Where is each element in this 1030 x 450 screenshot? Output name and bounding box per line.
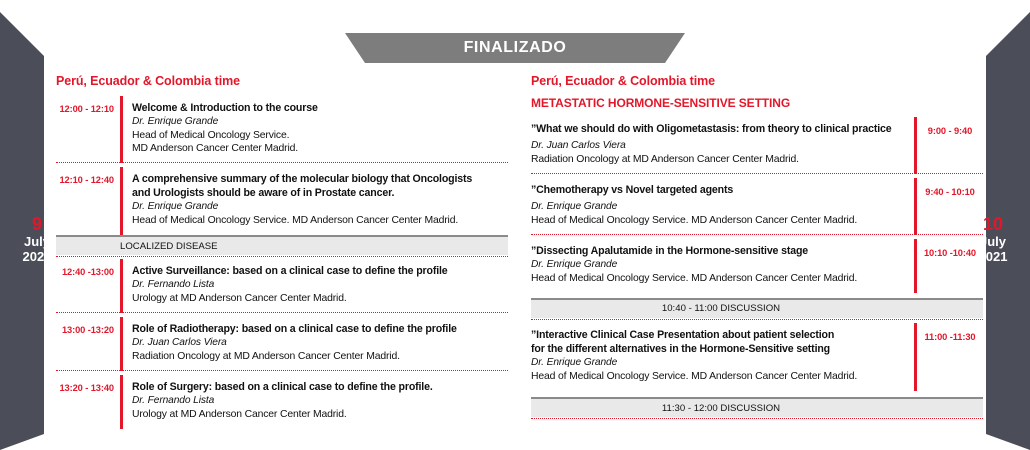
- status-banner: FINALIZADO: [345, 33, 685, 63]
- day2-section-title: METASTATIC HORMONE-SENSITIVE SETTING: [531, 96, 983, 110]
- agenda-column-day2: Perú, Ecuador & Colombia time METASTATIC…: [531, 74, 983, 417]
- session-title: Active Surveillance: based on a clinical…: [132, 265, 508, 278]
- band-divider: [531, 319, 983, 320]
- agenda-row: ”What we should do with Oligometastasis:…: [531, 117, 983, 174]
- session-body: ”Dissecting Apalutamide in the Hormone-s…: [531, 239, 914, 293]
- session-time: 9:40 - 10:10: [917, 178, 983, 197]
- agenda-row: 12:00 - 12:10 Welcome & Introduction to …: [56, 96, 508, 163]
- session-affiliation: Urology at MD Anderson Cancer Center Mad…: [132, 408, 508, 421]
- session-time: 9:00 - 9:40: [917, 117, 983, 136]
- agenda-row: ”Chemotherapy vs Novel targeted agents D…: [531, 178, 983, 235]
- session-time: 12:00 - 12:10: [56, 96, 120, 114]
- session-affiliation: Radiation Oncology at MD Anderson Cancer…: [132, 350, 508, 363]
- session-speaker: Dr. Juan Carlos Viera: [132, 337, 508, 350]
- session-time: 12:10 - 12:40: [56, 167, 120, 185]
- day1-timezone-title: Perú, Ecuador & Colombia time: [56, 74, 508, 88]
- discussion-band-label: 11:30 - 12:00 DISCUSSION: [531, 403, 983, 414]
- row-divider: [56, 370, 508, 371]
- agenda-column-day1: Perú, Ecuador & Colombia time 12:00 - 12…: [56, 74, 508, 429]
- session-affiliation: Head of Medical Oncology Service. MD And…: [531, 214, 906, 227]
- band-divider: [531, 418, 983, 419]
- agenda-row: 12:40 -13:00 Active Surveillance: based …: [56, 259, 508, 313]
- band-divider: [56, 256, 508, 257]
- section-band-label: LOCALIZED DISEASE: [56, 241, 218, 252]
- session-time: 13:00 -13:20: [56, 317, 120, 335]
- session-affiliation: Urology at MD Anderson Cancer Center Mad…: [132, 292, 508, 305]
- session-speaker: Dr. Enrique Grande: [132, 201, 508, 214]
- agenda-row: ”Dissecting Apalutamide in the Hormone-s…: [531, 239, 983, 293]
- discussion-band-2: 11:30 - 12:00 DISCUSSION: [531, 397, 983, 417]
- day2-timezone-title: Perú, Ecuador & Colombia time: [531, 74, 983, 88]
- session-speaker: Dr. Juan Carlos Viera: [531, 140, 906, 153]
- session-speaker: Dr. Fernando Lista: [132, 395, 508, 408]
- session-body: ”What we should do with Oligometastasis:…: [531, 117, 914, 174]
- session-speaker: Dr. Enrique Grande: [531, 259, 906, 272]
- session-body: Active Surveillance: based on a clinical…: [123, 259, 508, 313]
- agenda-row: ”Interactive Clinical Case Presentation …: [531, 323, 983, 391]
- session-speaker: Dr. Enrique Grande: [531, 357, 906, 370]
- session-title: ”Dissecting Apalutamide in the Hormone-s…: [531, 245, 906, 258]
- session-affiliation: Radiation Oncology at MD Anderson Cancer…: [531, 153, 906, 166]
- session-speaker: Dr. Enrique Grande: [132, 116, 508, 129]
- row-divider: [56, 162, 508, 163]
- session-body: Role of Surgery: based on a clinical cas…: [123, 375, 508, 429]
- session-title: ”What we should do with Oligometastasis:…: [531, 123, 906, 136]
- discussion-band-1: 10:40 - 11:00 DISCUSSION: [531, 298, 983, 318]
- session-title: A comprehensive summary of the molecular…: [132, 173, 508, 186]
- agenda-page: 9 July 2021 10 July 2021 FINALIZADO Perú…: [0, 0, 1030, 450]
- agenda-row: 13:20 - 13:40 Role of Surgery: based on …: [56, 375, 508, 429]
- session-affiliation: MD Anderson Cancer Center Madrid.: [132, 142, 508, 155]
- session-title: Role of Radiotherapy: based on a clinica…: [132, 323, 508, 336]
- row-divider: [531, 173, 983, 174]
- status-banner-label: FINALIZADO: [464, 39, 567, 57]
- session-title: and Urologists should be aware of in Pro…: [132, 187, 508, 200]
- session-speaker: Dr. Enrique Grande: [531, 201, 906, 214]
- session-title: ”Chemotherapy vs Novel targeted agents: [531, 184, 906, 197]
- session-body: ”Chemotherapy vs Novel targeted agents D…: [531, 178, 914, 235]
- section-band-localized-disease: LOCALIZED DISEASE: [56, 235, 508, 255]
- session-body: A comprehensive summary of the molecular…: [123, 167, 508, 235]
- session-affiliation: Head of Medical Oncology Service. MD And…: [531, 272, 906, 285]
- session-title: ”Interactive Clinical Case Presentation …: [531, 329, 906, 342]
- row-divider: [56, 312, 508, 313]
- session-title: for the different alternatives in the Ho…: [531, 343, 906, 356]
- session-time: 12:40 -13:00: [56, 259, 120, 277]
- session-body: Role of Radiotherapy: based on a clinica…: [123, 317, 508, 371]
- session-time: 13:20 - 13:40: [56, 375, 120, 393]
- session-affiliation: Head of Medical Oncology Service. MD And…: [132, 214, 508, 227]
- session-title: Role of Surgery: based on a clinical cas…: [132, 381, 508, 394]
- session-affiliation: Head of Medical Oncology Service.: [132, 129, 508, 142]
- session-speaker: Dr. Fernando Lista: [132, 279, 508, 292]
- agenda-row: 12:10 - 12:40 A comprehensive summary of…: [56, 167, 508, 235]
- row-divider: [531, 234, 983, 235]
- session-time: 11:00 -11:30: [917, 323, 983, 342]
- agenda-row: 13:00 -13:20 Role of Radiotherapy: based…: [56, 317, 508, 371]
- discussion-band-label: 10:40 - 11:00 DISCUSSION: [531, 303, 983, 314]
- session-title: Welcome & Introduction to the course: [132, 102, 508, 115]
- session-body: Welcome & Introduction to the course Dr.…: [123, 96, 508, 163]
- session-time: 10:10 -10:40: [917, 239, 983, 258]
- session-affiliation: Head of Medical Oncology Service. MD And…: [531, 370, 906, 383]
- session-body: ”Interactive Clinical Case Presentation …: [531, 323, 914, 391]
